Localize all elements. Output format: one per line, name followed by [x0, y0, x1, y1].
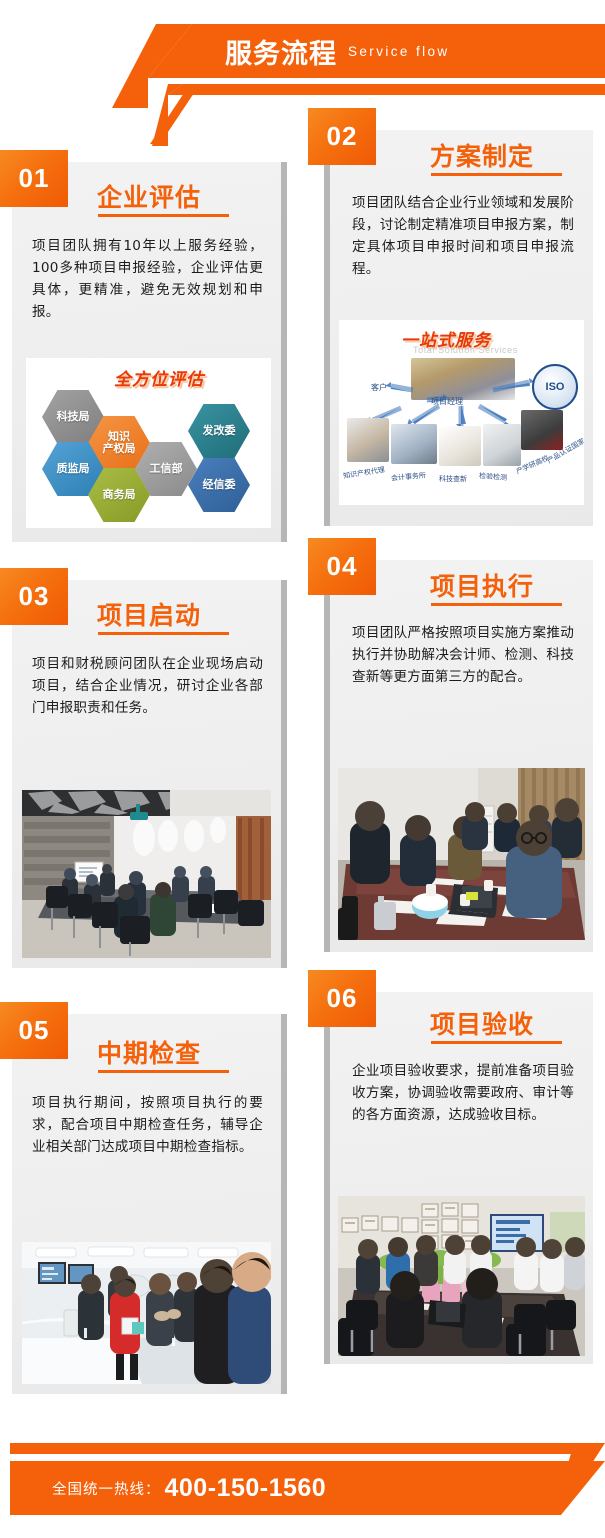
step-number-badge-05: 05	[0, 1002, 68, 1059]
service-node-project-manager: 项目经理	[431, 396, 463, 407]
card-title-rule-05	[98, 1070, 229, 1073]
iso-seal-icon: ISO	[532, 364, 578, 410]
service-label-novelty: 科技查新	[439, 474, 467, 484]
card-title-rule-01	[98, 214, 229, 217]
card-title-05: 中期检查	[97, 1034, 201, 1070]
page-footer: 全国统一热线： 400-150-1560	[0, 1413, 605, 1538]
service-node-customer: 客户	[371, 382, 387, 393]
card-title-rule-02	[431, 173, 562, 176]
photo-acceptance-meeting	[338, 1196, 585, 1356]
photo-conference-room	[22, 790, 271, 958]
card-title-rule-03	[98, 632, 229, 635]
card-description-02: 项目团队结合企业行业领域和发展阶段，讨论制定精准项目申报方案，制定具体项目申报时…	[352, 192, 574, 280]
photo-working-meeting	[338, 768, 585, 940]
step-card-01: 01 企业评估 项目团队拥有10年以上服务经验，100多种项目申报经验，企业评估…	[12, 162, 281, 542]
photo-working-meeting-render	[338, 768, 585, 940]
header-title-group: 服务流程 Service flow	[225, 28, 450, 74]
card-title-rule-04	[431, 603, 562, 606]
hexagon-node-jingxinwei: 经信委	[188, 458, 250, 512]
step-number-badge-06: 06	[308, 970, 376, 1027]
card-title-03: 项目启动	[97, 596, 201, 632]
step-number-badge-01: 01	[0, 150, 68, 207]
page-title: 服务流程	[225, 32, 337, 71]
card-description-06: 企业项目验收要求，提前准备项目验收方案，协调验收需要政府、审计等的各方面资源，达…	[352, 1060, 574, 1126]
card-title-06: 项目验收	[430, 1005, 534, 1041]
step-card-06: 06 项目验收 企业项目验收要求，提前准备项目验收方案，协调验收需要政府、审计等…	[330, 992, 593, 1364]
service-photo-accounting	[391, 424, 437, 464]
step-card-03: 03 项目启动 项目和财税顾问团队在企业现场启动项目，结合企业情况，研讨企业各部…	[12, 580, 281, 968]
step-card-02: 02 方案制定 项目团队结合企业行业领域和发展阶段，讨论制定精准项目申报方案，制…	[330, 130, 593, 526]
photo-conference-room-render	[22, 790, 271, 958]
card-description-01: 项目团队拥有10年以上服务经验，100多种项目申报经验，企业评估更具体，更精准，…	[32, 235, 263, 323]
service-photo-ip	[347, 418, 389, 462]
service-label-testing: 检验检测	[479, 471, 508, 483]
step-card-04: 04 项目执行 项目团队严格按照项目实施方案推动执行并协助解决会计师、检测、科技…	[330, 560, 593, 952]
footer-hotline-label: 全国统一热线：	[52, 1478, 161, 1499]
hexagon-chart-title: 全方位评估	[114, 365, 204, 390]
card-title-02: 方案制定	[430, 137, 534, 173]
step-card-05: 05 中期检查 项目执行期间，按照项目执行的要求，配合项目中期检查任务，辅导企业…	[12, 1014, 281, 1394]
card-description-04: 项目团队严格按照项目实施方案推动执行并协助解决会计师、检测、科技查新等更方面第三…	[352, 622, 574, 688]
card-title-rule-06	[431, 1041, 562, 1044]
footer-hotline-number[interactable]: 400-150-1560	[165, 1474, 327, 1503]
service-photo-university	[521, 410, 563, 450]
service-photo-testing	[483, 424, 521, 466]
header-stripe	[168, 84, 605, 95]
photo-acceptance-meeting-render	[338, 1196, 585, 1356]
service-photo-novelty	[439, 426, 481, 466]
photo-showroom-visit	[22, 1242, 271, 1384]
photo-showroom-visit-render	[22, 1242, 271, 1384]
one-stop-service-graphic: 一站式服务 Total Solution Services	[339, 320, 584, 505]
step-number-badge-03: 03	[0, 568, 68, 625]
page-header: 服务流程 Service flow	[0, 0, 605, 120]
hexagon-node-fagaiwei: 发改委	[188, 404, 250, 458]
page-subtitle: Service flow	[348, 44, 450, 59]
footer-hotline-group: 全国统一热线： 400-150-1560	[52, 1461, 326, 1515]
footer-stripe	[10, 1443, 593, 1454]
card-title-01: 企业评估	[97, 178, 201, 214]
step-number-badge-04: 04	[308, 538, 376, 595]
card-title-04: 项目执行	[430, 567, 534, 603]
card-description-03: 项目和财税顾问团队在企业现场启动项目，结合企业情况，研讨企业各部门申报职责和任务…	[32, 653, 263, 719]
hexagon-chart: 全方位评估 科技局 知识 产权局 发改委 质监局 工信部 商务局 经信委	[26, 358, 271, 528]
card-description-05: 项目执行期间，按照项目执行的要求，配合项目中期检查任务，辅导企业相关部门达成项目…	[32, 1092, 263, 1158]
step-number-badge-02: 02	[308, 108, 376, 165]
